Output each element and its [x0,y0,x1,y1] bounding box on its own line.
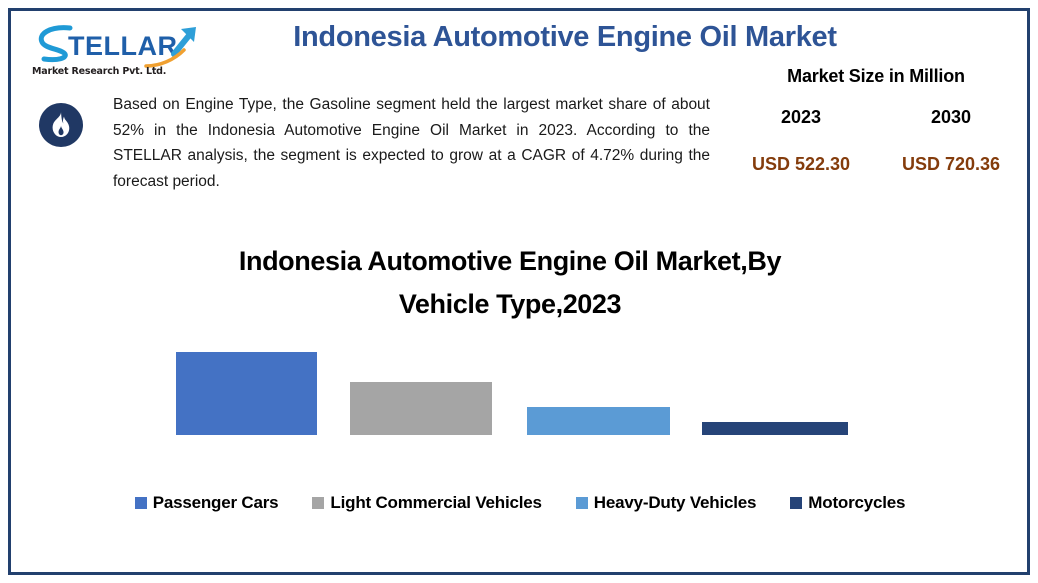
page-title: Indonesia Automotive Engine Oil Market [215,20,915,54]
legend-item-heavy-duty-vehicles[interactable]: Heavy-Duty Vehicles [576,493,757,513]
market-size-columns: 2023 USD 522.30 2030 USD 720.36 [726,107,1026,175]
market-value-label: USD 522.30 [726,154,876,175]
legend-label: Passenger Cars [153,493,279,513]
bar-passenger-cars[interactable] [176,352,317,435]
bar-slot [350,382,492,435]
market-year-label: 2023 [726,107,876,128]
chart-legend: Passenger Cars Light Commercial Vehicles… [60,493,980,513]
bar-slot [702,422,848,435]
flame-badge [39,103,83,147]
bar-slot [176,352,317,435]
logo-mark-icon: TELLAR [28,20,208,68]
bar-slot [527,407,670,435]
legend-item-passenger-cars[interactable]: Passenger Cars [135,493,279,513]
legend-swatch-icon [312,497,324,509]
chart-title-line-2: Vehicle Type,2023 [160,283,860,326]
infographic-page: TELLAR Market Research Pvt. Ltd. Indones… [0,0,1038,583]
market-size-panel: Market Size in Million 2023 USD 522.30 2… [726,66,1026,175]
stellar-logo: TELLAR Market Research Pvt. Ltd. [28,20,208,82]
chart-title-line-1: Indonesia Automotive Engine Oil Market,B… [160,240,860,283]
legend-item-light-commercial-vehicles[interactable]: Light Commercial Vehicles [312,493,541,513]
svg-text:TELLAR: TELLAR [68,31,177,61]
market-value-label: USD 720.36 [876,154,1026,175]
legend-label: Motorcycles [808,493,905,513]
bar-light-commercial-vehicles[interactable] [350,382,492,435]
market-size-heading: Market Size in Million [726,66,1026,87]
legend-swatch-icon [576,497,588,509]
summary-text: Based on Engine Type, the Gasoline segme… [113,92,710,194]
legend-swatch-icon [135,497,147,509]
legend-swatch-icon [790,497,802,509]
logo-tagline: Market Research Pvt. Ltd. [32,66,166,77]
market-size-entry-2030: 2030 USD 720.36 [876,107,1026,175]
bar-heavy-duty-vehicles[interactable] [527,407,670,435]
bar-chart-plot-area [160,335,880,435]
market-year-label: 2030 [876,107,1026,128]
legend-label: Light Commercial Vehicles [330,493,541,513]
legend-label: Heavy-Duty Vehicles [594,493,757,513]
market-size-entry-2023: 2023 USD 522.30 [726,107,876,175]
bar-motorcycles[interactable] [702,422,848,435]
chart-title: Indonesia Automotive Engine Oil Market,B… [160,240,860,326]
legend-item-motorcycles[interactable]: Motorcycles [790,493,905,513]
flame-icon [50,112,72,138]
